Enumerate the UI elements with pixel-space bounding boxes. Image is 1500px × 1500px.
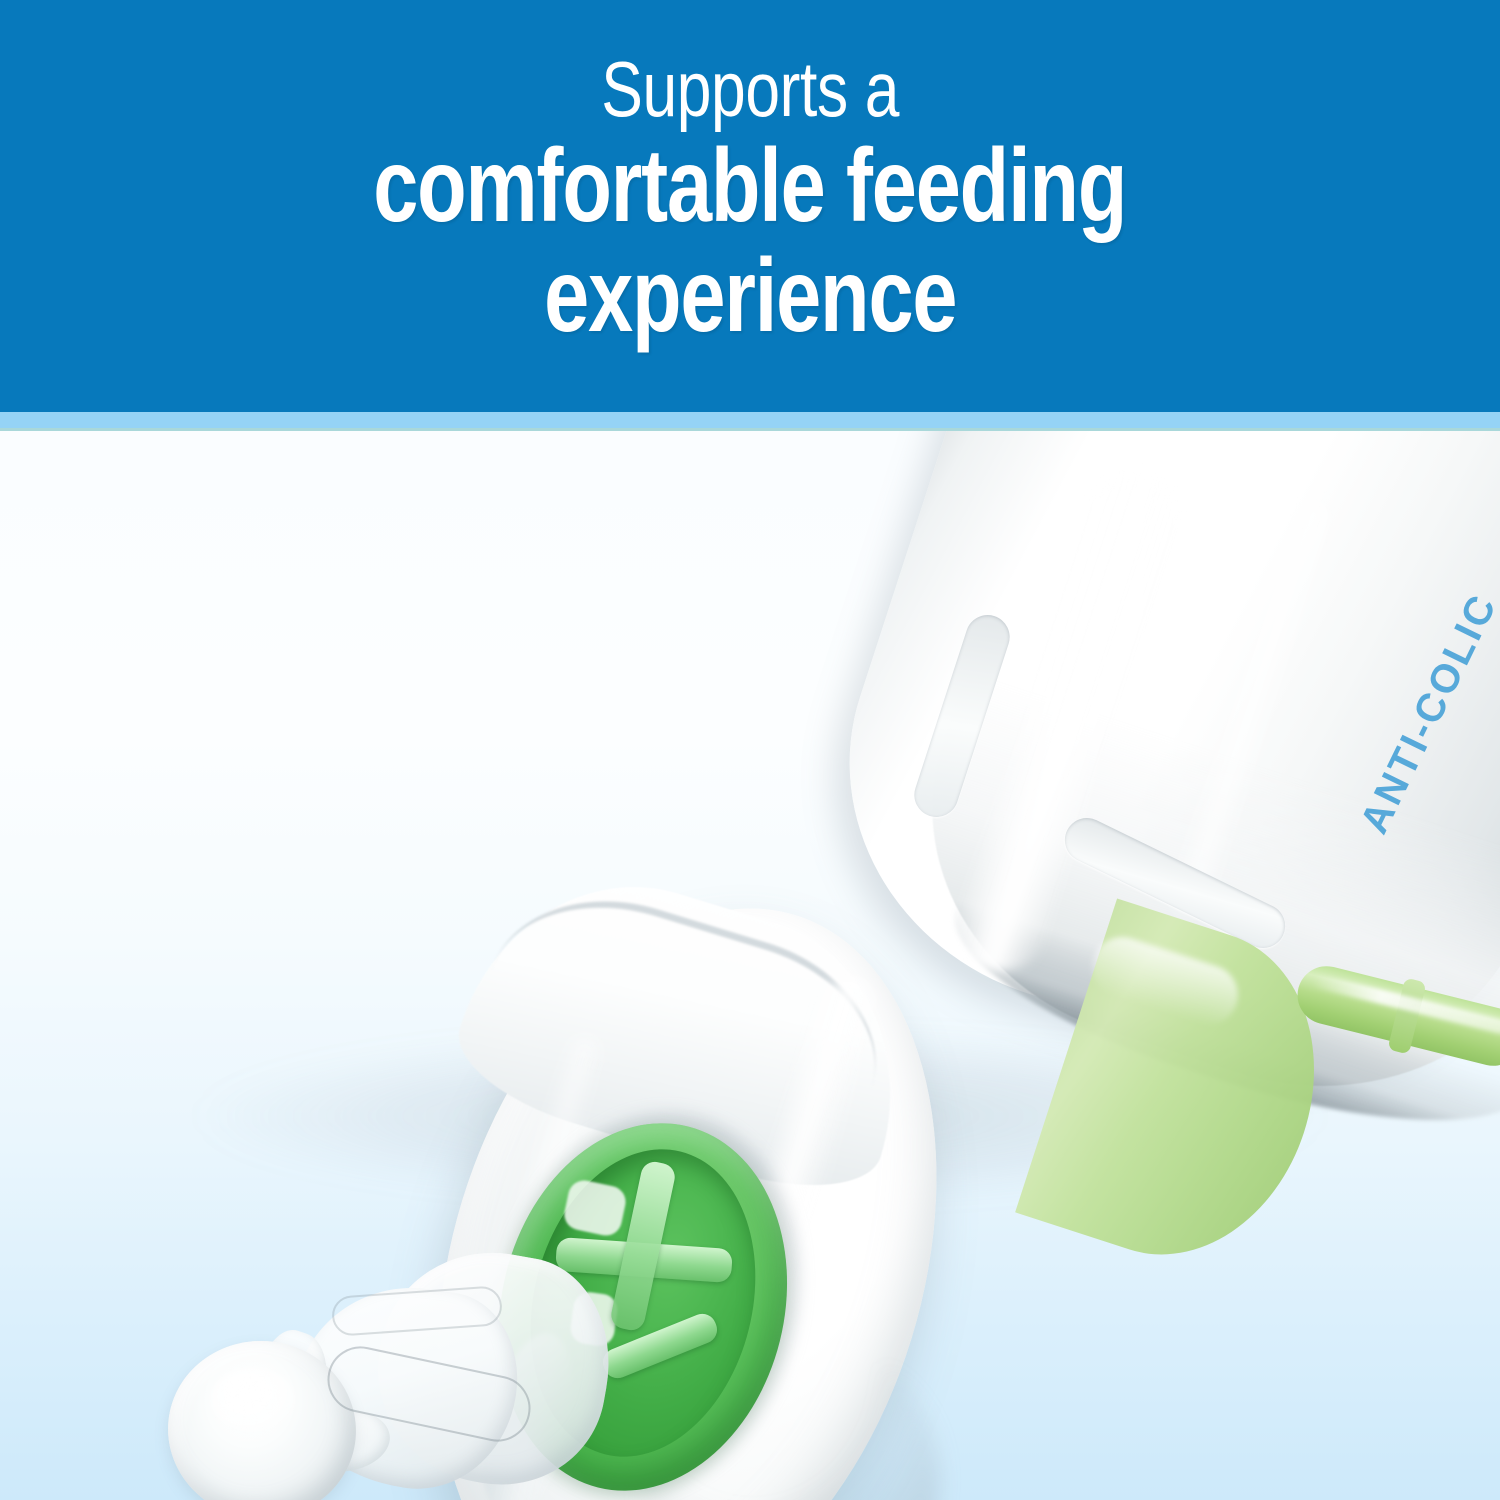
header-banner: Supports a comfortable feeding experienc…: [0, 0, 1500, 412]
header-eyebrow: Supports a: [601, 51, 899, 127]
accent-band: [0, 412, 1500, 428]
product-stage: ANTI-COLIC: [0, 431, 1500, 1500]
header-headline-line2: experience: [544, 238, 956, 354]
product-feature-poster: Supports a comfortable feeding experienc…: [0, 0, 1500, 1500]
product-image: ANTI-COLIC: [0, 431, 1500, 1500]
header-headline-line1: comfortable feeding: [373, 128, 1126, 244]
teat-tip-highlight: [210, 1367, 296, 1433]
